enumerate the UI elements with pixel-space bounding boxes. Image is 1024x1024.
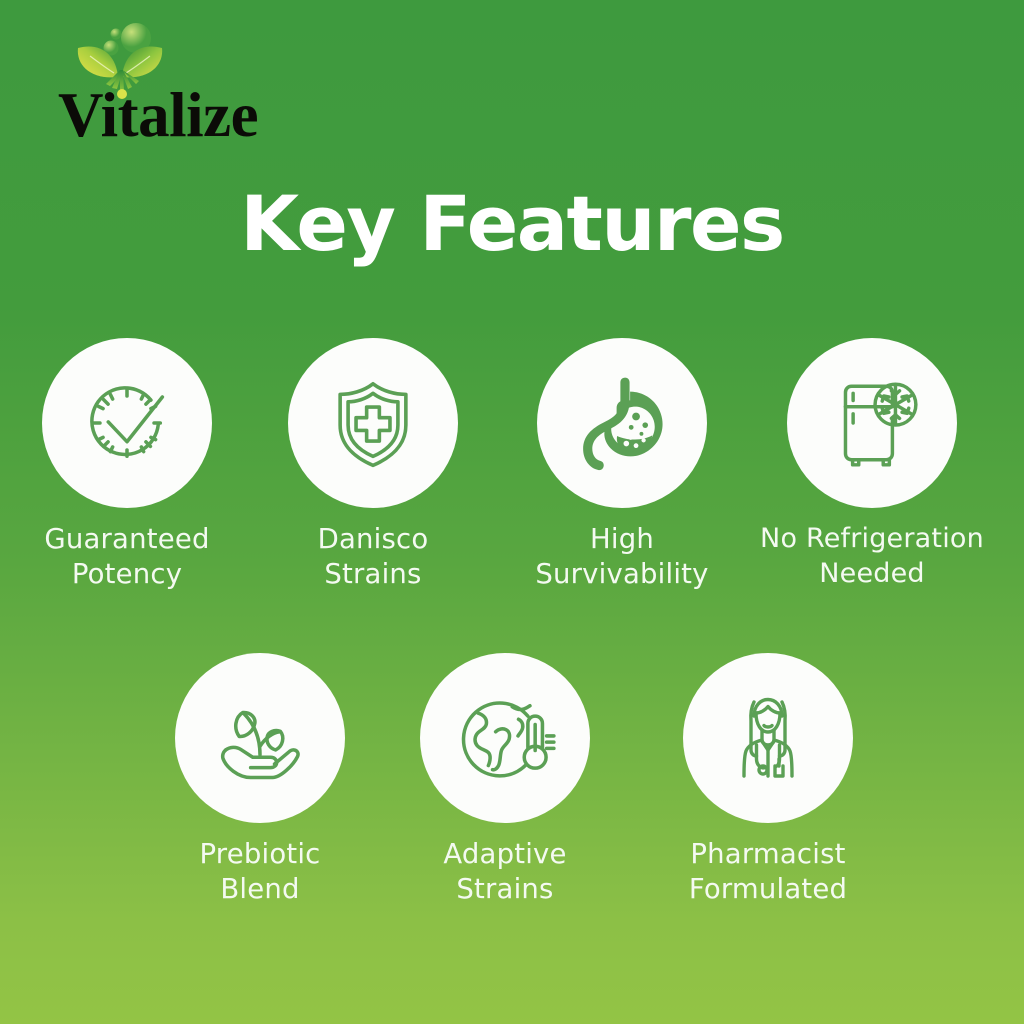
hand-holding-plant-icon	[175, 653, 345, 823]
feature-label: Pharmacist Formulated	[643, 837, 893, 907]
feature-adaptive-strains: Adaptive Strains	[380, 653, 630, 907]
feature-no-refrigeration-needed: No Refrigeration Needed	[747, 338, 997, 591]
feature-label: Prebiotic Blend	[135, 837, 385, 907]
feature-label: Guaranteed Potency	[2, 522, 252, 592]
feature-label: High Survivability	[497, 522, 747, 592]
clock-check-icon	[42, 338, 212, 508]
stomach-icon	[537, 338, 707, 508]
feature-danisco-strains: Danisco Strains	[248, 338, 498, 592]
shield-medical-cross-icon	[288, 338, 458, 508]
feature-label: Adaptive Strains	[380, 837, 630, 907]
pharmacist-icon	[683, 653, 853, 823]
globe-thermometer-icon	[420, 653, 590, 823]
feature-guaranteed-potency: Guaranteed Potency	[2, 338, 252, 592]
page-title: Key Features	[0, 186, 1024, 262]
refrigerator-snowflake-icon	[787, 338, 957, 508]
feature-label: Danisco Strains	[248, 522, 498, 592]
feature-prebiotic-blend: Prebiotic Blend	[135, 653, 385, 907]
feature-label: No Refrigeration Needed	[747, 522, 997, 591]
feature-high-survivability: High Survivability	[497, 338, 747, 592]
brand-wordmark: Vitalize	[58, 84, 258, 147]
feature-pharmacist-formulated: Pharmacist Formulated	[643, 653, 893, 907]
brand-logo: Vitalize	[58, 22, 338, 152]
